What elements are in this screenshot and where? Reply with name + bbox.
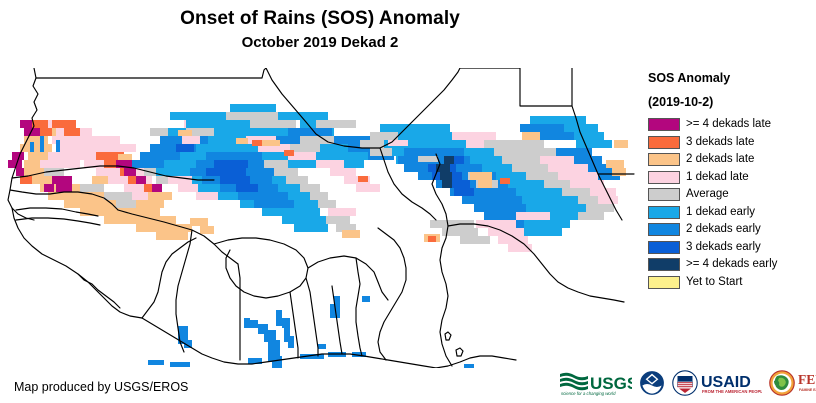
legend-item-3-dekads-late[interactable]: 3 dekads late [648, 134, 813, 152]
legend-item-average[interactable]: Average [648, 186, 813, 204]
page-subtitle: October 2019 Dekad 2 [0, 32, 640, 54]
legend-item-label: Average [686, 188, 729, 201]
legend-item-ge-4-dekads-late[interactable]: >= 4 dekads late [648, 116, 813, 134]
usaid-logo: USAID FROM THE AMERICAN PEOPLE [672, 370, 762, 396]
map-legend: SOS Anomaly (2019-10-2) >= 4 dekads late… [648, 70, 813, 291]
legend-date: (2019-10-2) [648, 94, 813, 110]
legend-item-label: Yet to Start [686, 276, 742, 289]
legend-item-label: >= 4 dekads early [686, 258, 777, 271]
legend-item-label: 3 dekads early [686, 241, 761, 254]
legend-item-ge-4-dekads-early[interactable]: >= 4 dekads early [648, 256, 813, 274]
map-credit: Map produced by USGS/EROS [14, 380, 188, 394]
legend-item-label: 2 dekads late [686, 153, 754, 166]
legend-item-yet-to-start[interactable]: Yet to Start [648, 274, 813, 292]
legend-swatch [648, 276, 680, 289]
legend-swatch [648, 136, 680, 149]
legend-swatch [648, 153, 680, 166]
noaa-logo [639, 370, 665, 396]
legend-swatch [648, 241, 680, 254]
svg-text:science for a changing world: science for a changing world [561, 391, 616, 396]
legend-item-label: 2 dekads early [686, 223, 761, 236]
legend-item-label: 1 dekad late [686, 171, 749, 184]
legend-swatch [648, 206, 680, 219]
fewsnet-logo: FEWS NET FAMINE EARLY WARNING SYSTEMS NE… [769, 370, 816, 396]
page-title: Onset of Rains (SOS) Anomaly [0, 6, 640, 32]
title-block: Onset of Rains (SOS) Anomaly October 201… [0, 6, 640, 54]
legend-swatch [648, 188, 680, 201]
legend-swatch [648, 171, 680, 184]
logo-strip: USGS science for a changing world USAID … [558, 368, 816, 398]
map-canvas[interactable] [0, 68, 637, 368]
anomaly-raster [8, 104, 628, 368]
legend-title: SOS Anomaly [648, 70, 813, 86]
legend-item-2-dekads-early[interactable]: 2 dekads early [648, 221, 813, 239]
legend-item-label: >= 4 dekads late [686, 118, 771, 131]
legend-item-label: 3 dekads late [686, 136, 754, 149]
svg-text:FAMINE EARLY WARNING SYSTEMS N: FAMINE EARLY WARNING SYSTEMS NETWORK [799, 388, 816, 392]
legend-item-1-dekad-early[interactable]: 1 dekad early [648, 204, 813, 222]
legend-item-3-dekads-early[interactable]: 3 dekads early [648, 239, 813, 257]
legend-item-2-dekads-late[interactable]: 2 dekads late [648, 151, 813, 169]
legend-swatch [648, 118, 680, 131]
legend-item-1-dekad-late[interactable]: 1 dekad late [648, 169, 813, 187]
usgs-logo: USGS science for a changing world [558, 369, 632, 397]
legend-swatch [648, 223, 680, 236]
legend-swatch [648, 258, 680, 271]
svg-text:FROM THE AMERICAN PEOPLE: FROM THE AMERICAN PEOPLE [702, 389, 762, 394]
svg-text:FEWS NET: FEWS NET [798, 372, 816, 387]
legend-item-label: 1 dekad early [686, 206, 755, 219]
